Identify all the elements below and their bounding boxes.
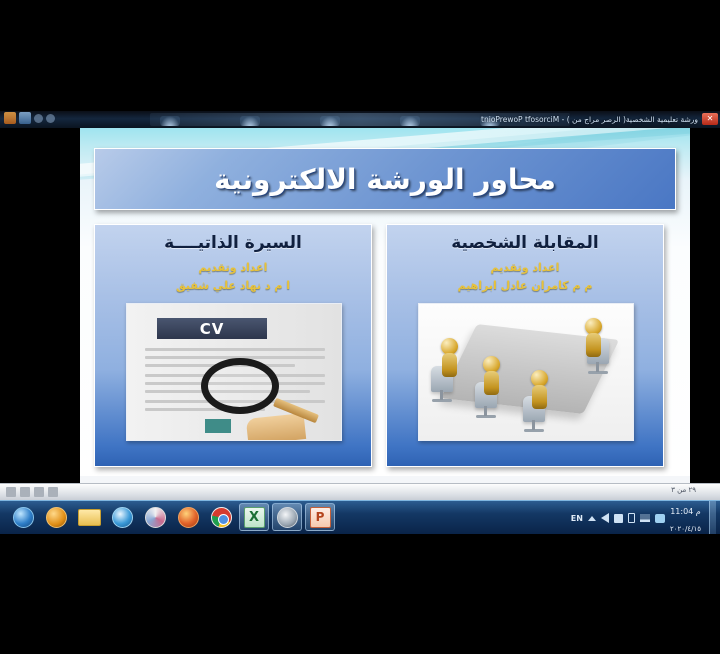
cv-paper: CV — [127, 304, 341, 440]
volume-icon[interactable] — [601, 513, 609, 523]
powerpoint-icon: P — [310, 507, 331, 528]
taskbar-powerpoint[interactable]: P — [305, 503, 335, 531]
slide-canvas[interactable]: محاور الورشة الالكترونية السيرة الذاتيــ… — [80, 128, 690, 476]
redo-icon[interactable] — [46, 114, 55, 123]
panel-interview-credit-name: م م كامران عادل ابراهيم — [387, 279, 663, 292]
excel-icon: X — [244, 507, 265, 528]
interview-meeting-table-image[interactable] — [418, 303, 634, 441]
swirl-app-icon — [145, 507, 166, 528]
panel-cv-credit-label: اعداد وتقديم — [95, 261, 371, 274]
panel-cv-credit-name: ا م د نهاد علي شفيق — [95, 279, 371, 292]
cv-teal-block — [205, 419, 231, 433]
windows-taskbar: X P EN 11:04 م ٢٠٢٠/٤/١٥ — [0, 500, 720, 534]
internet-explorer-icon — [112, 507, 133, 528]
media-player-icon — [46, 507, 67, 528]
figure-right-presenter — [585, 318, 602, 357]
slide-counter: ٢٩ من ٣ — [671, 486, 696, 494]
camera-icon — [277, 507, 298, 528]
figure-left-back — [441, 338, 458, 377]
page-title: محاور الورشة الالكترونية — [95, 149, 675, 209]
cv-document-magnifier-image[interactable]: CV — [126, 303, 342, 441]
taskbar-excel[interactable]: X — [239, 503, 269, 531]
language-indicator[interactable]: EN — [571, 514, 583, 523]
quick-access-toolbar[interactable] — [4, 112, 55, 124]
slide-sorter-icon[interactable] — [20, 487, 30, 497]
taskbar-media-player[interactable] — [41, 503, 71, 531]
taskbar-chrome[interactable] — [206, 503, 236, 531]
folder-icon — [78, 509, 101, 526]
panel-interview-credit-label: اعداد وتقديم — [387, 261, 663, 274]
window-title: ورشة تعليمية الشخصية( الرصر مراج من ) - … — [481, 112, 698, 127]
screen: ورشة تعليمية الشخصية( الرصر مراج من ) - … — [0, 0, 720, 654]
clock-time: 11:04 م — [670, 507, 701, 516]
screen-bottom-fill — [0, 534, 720, 654]
powerpoint-status-bar: ٢٩ من ٣ — [0, 483, 720, 500]
view-buttons[interactable] — [6, 487, 58, 497]
magnifier-icon — [201, 358, 279, 414]
chrome-icon — [211, 507, 232, 528]
meeting-scene — [419, 304, 633, 440]
panel-interview-heading: المقابلة الشخصية — [387, 233, 663, 253]
taskbar-file-explorer[interactable] — [74, 503, 104, 531]
action-center-icon[interactable] — [614, 514, 623, 523]
clock[interactable]: 11:04 م ٢٠٢٠/٤/١٥ — [670, 501, 704, 535]
office-button-icon[interactable] — [4, 112, 16, 124]
taskbar-camera-app[interactable] — [272, 503, 302, 531]
system-tray: EN 11:04 م ٢٠٢٠/٤/١٥ — [571, 501, 716, 535]
figure-left-front — [483, 356, 500, 395]
reading-view-icon[interactable] — [34, 487, 44, 497]
share-icon[interactable] — [655, 514, 665, 523]
show-hidden-icons-icon[interactable] — [588, 516, 596, 521]
windows-start-orb-icon — [13, 507, 34, 528]
cv-hand-shape — [246, 413, 306, 441]
battery-icon[interactable] — [628, 513, 635, 523]
figure-center-front — [531, 370, 548, 409]
slideshow-icon[interactable] — [48, 487, 58, 497]
cv-banner: CV — [157, 318, 267, 339]
taskbar-swirl-app[interactable] — [140, 503, 170, 531]
firefox-icon — [178, 507, 199, 528]
clock-date: ٢٠٢٠/٤/١٥ — [670, 525, 701, 533]
powerpoint-title-bar: ورشة تعليمية الشخصية( الرصر مراج من ) - … — [0, 111, 720, 128]
application-body: محاور الورشة الالكترونية السيرة الذاتيــ… — [0, 128, 720, 483]
taskbar-internet-explorer[interactable] — [107, 503, 137, 531]
panel-interview[interactable]: المقابلة الشخصية اعداد وتقديم م م كامران… — [386, 224, 664, 467]
network-icon[interactable] — [640, 514, 650, 522]
panel-cv[interactable]: السيرة الذاتيــــة اعداد وتقديم ا م د نه… — [94, 224, 372, 467]
slide-work-area: محاور الورشة الالكترونية السيرة الذاتيــ… — [80, 128, 690, 483]
undo-icon[interactable] — [34, 114, 43, 123]
normal-view-icon[interactable] — [6, 487, 16, 497]
start-button[interactable] — [8, 503, 38, 531]
close-icon[interactable]: ✕ — [702, 113, 718, 125]
save-icon[interactable] — [19, 112, 31, 124]
cv-banner-label: CV — [200, 320, 225, 338]
show-desktop-button[interactable] — [709, 501, 716, 535]
taskbar-firefox[interactable] — [173, 503, 203, 531]
panel-cv-heading: السيرة الذاتيــــة — [95, 233, 371, 253]
slide-title-plaque[interactable]: محاور الورشة الالكترونية — [94, 148, 676, 210]
